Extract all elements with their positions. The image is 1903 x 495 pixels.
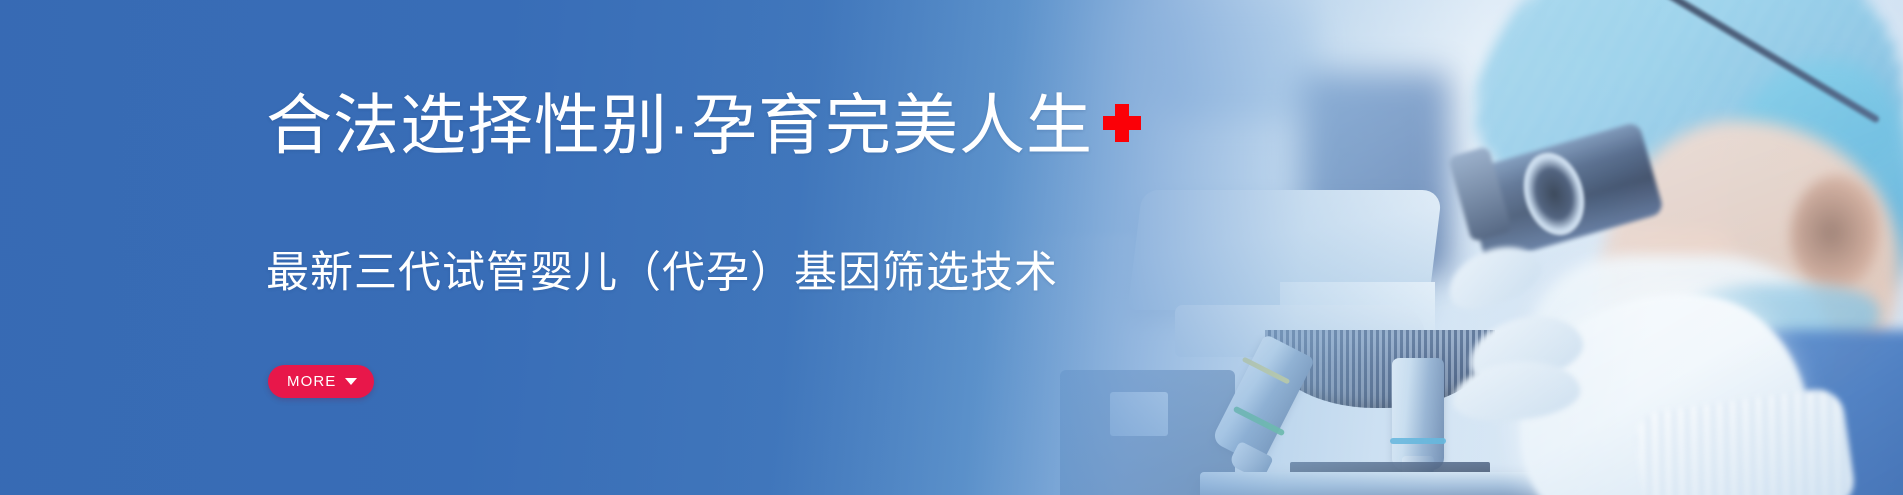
more-button[interactable]: MORE: [268, 365, 374, 398]
banner-content: 合法选择性别·孕育完美人生 最新三代试管婴儿（代孕）基因筛选技术 MORE: [0, 0, 1903, 495]
more-button-label: MORE: [287, 374, 336, 389]
red-medical-cross-icon: [1103, 104, 1141, 142]
banner-subheadline: 最新三代试管婴儿（代孕）基因筛选技术: [266, 248, 1058, 300]
headline-row: 合法选择性别·孕育完美人生: [266, 92, 1141, 158]
banner-headline: 合法选择性别·孕育完美人生: [266, 92, 1093, 158]
chevron-down-icon: [345, 378, 357, 385]
hero-banner: 合法选择性别·孕育完美人生 最新三代试管婴儿（代孕）基因筛选技术 MORE: [0, 0, 1903, 495]
